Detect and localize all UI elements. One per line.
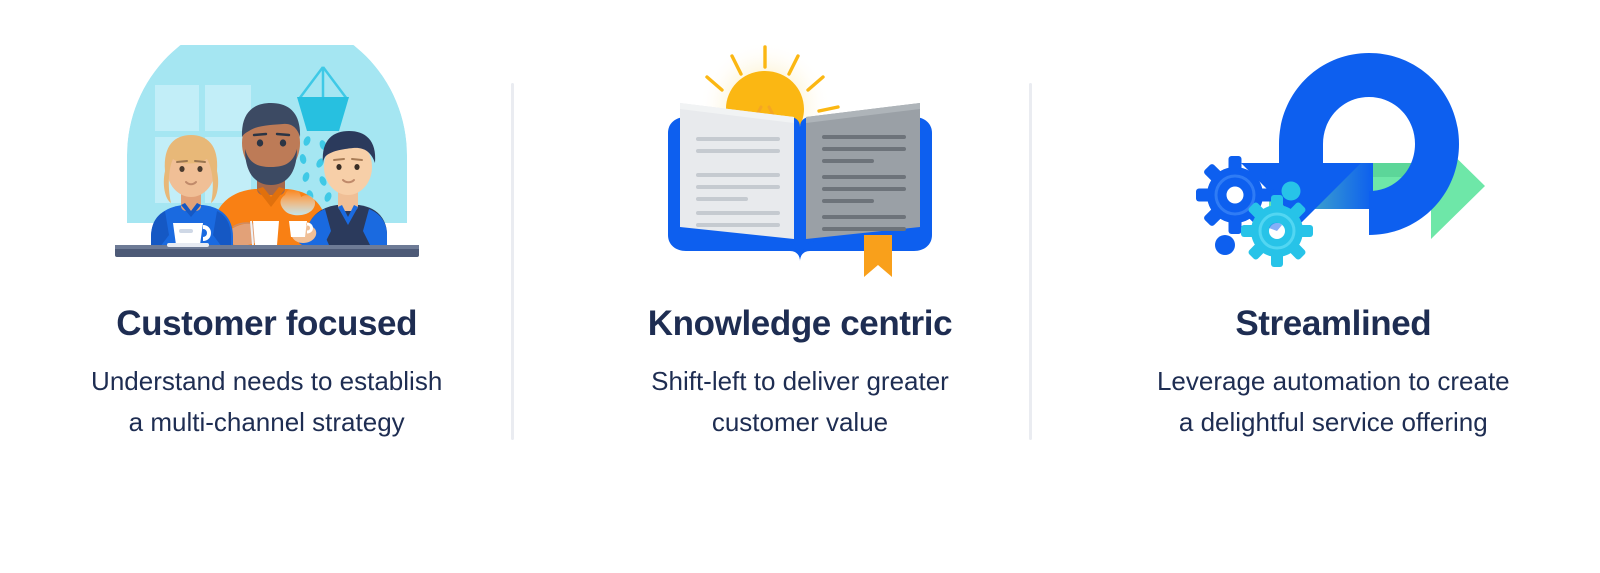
feature-heading: Knowledge centric xyxy=(648,306,952,343)
feature-subtext-line-1: Shift-left to deliver greater xyxy=(651,361,949,403)
feature-heading: Customer focused xyxy=(116,306,417,343)
feature-columns-section: Customer focused Understand needs to est… xyxy=(0,0,1600,573)
feature-subtext-line-1: Understand needs to establish xyxy=(91,361,442,403)
feature-subtext: Understand needs to establish a multi-ch… xyxy=(91,361,442,444)
open-book-lightbulb-icon xyxy=(640,45,960,280)
feature-subtext: Leverage automation to create a delightf… xyxy=(1157,361,1510,444)
team-conversation-illustration xyxy=(107,45,427,280)
feature-column-customer-focused: Customer focused Understand needs to est… xyxy=(0,0,533,573)
feature-subtext: Shift-left to deliver greater customer v… xyxy=(651,361,949,444)
feature-subtext-line-2: a delightful service offering xyxy=(1157,402,1510,444)
feature-heading: Streamlined xyxy=(1235,306,1431,343)
feature-column-streamlined: Streamlined Leverage automation to creat… xyxy=(1067,0,1600,573)
column-divider-1 xyxy=(511,83,514,440)
column-divider-2 xyxy=(1029,83,1032,440)
feature-subtext-line-2: customer value xyxy=(651,402,949,444)
feature-subtext-line-2: a multi-channel strategy xyxy=(91,402,442,444)
feature-column-knowledge-centric: Knowledge centric Shift-left to deliver … xyxy=(533,0,1066,573)
feature-subtext-line-1: Leverage automation to create xyxy=(1157,361,1510,403)
loop-arrow-gears-icon xyxy=(1173,45,1493,280)
